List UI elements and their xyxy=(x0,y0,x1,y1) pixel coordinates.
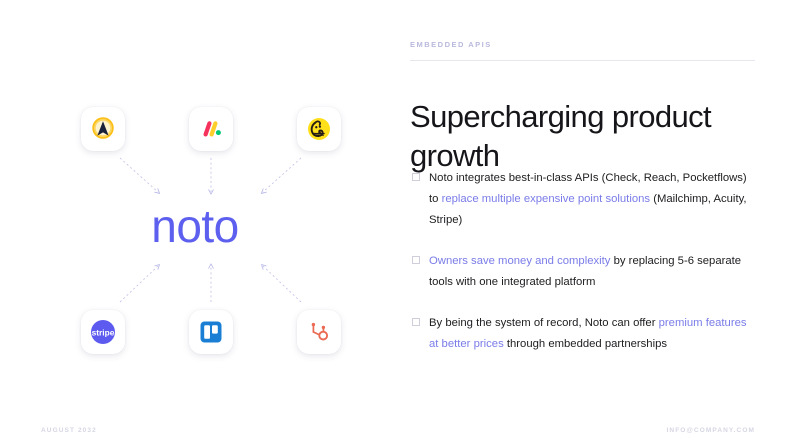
app-tile-trello[interactable] xyxy=(189,310,233,354)
bullet-text-1: Owners save money and complexity by repl… xyxy=(429,255,741,288)
bullet-list: Noto integrates best-in-class APIs (Chec… xyxy=(410,168,755,355)
content-panel: EMBEDDED APIS Supercharging product grow… xyxy=(410,0,755,445)
app-tile-acuity[interactable] xyxy=(81,107,125,151)
bullet-text-2: By being the system of record, Noto can … xyxy=(429,317,747,350)
stripe-icon: stripe xyxy=(89,318,117,346)
list-item: By being the system of record, Noto can … xyxy=(410,313,755,355)
app-tile-hubspot[interactable] xyxy=(297,310,341,354)
bullet-text-0: Noto integrates best-in-class APIs (Chec… xyxy=(429,172,747,226)
bullet-square-icon xyxy=(412,173,420,181)
app-tile-mailchimp[interactable] xyxy=(297,107,341,151)
integration-diagram: stripe xyxy=(0,0,390,445)
bullet-square-icon xyxy=(412,318,420,326)
mailchimp-icon xyxy=(306,116,332,142)
noto-wordmark: noto xyxy=(0,198,390,254)
hubspot-icon xyxy=(306,319,332,345)
app-tile-monday[interactable] xyxy=(189,107,233,151)
footer-contact: INFO@COMPANY.COM xyxy=(667,427,755,434)
header-divider xyxy=(410,60,755,61)
svg-text:stripe: stripe xyxy=(92,327,115,337)
app-tile-stripe[interactable]: stripe xyxy=(81,310,125,354)
bullet-square-icon xyxy=(412,256,420,264)
trello-icon xyxy=(198,319,224,345)
eyebrow-label: EMBEDDED APIS xyxy=(410,40,492,49)
list-item: Owners save money and complexity by repl… xyxy=(410,251,755,293)
slide: stripe xyxy=(0,0,790,445)
list-item: Noto integrates best-in-class APIs (Chec… xyxy=(410,168,755,231)
monday-icon xyxy=(198,116,224,142)
page-title: Supercharging product growth xyxy=(410,97,740,175)
acuity-icon xyxy=(90,116,116,142)
footer-date: AUGUST 2032 xyxy=(41,427,97,434)
